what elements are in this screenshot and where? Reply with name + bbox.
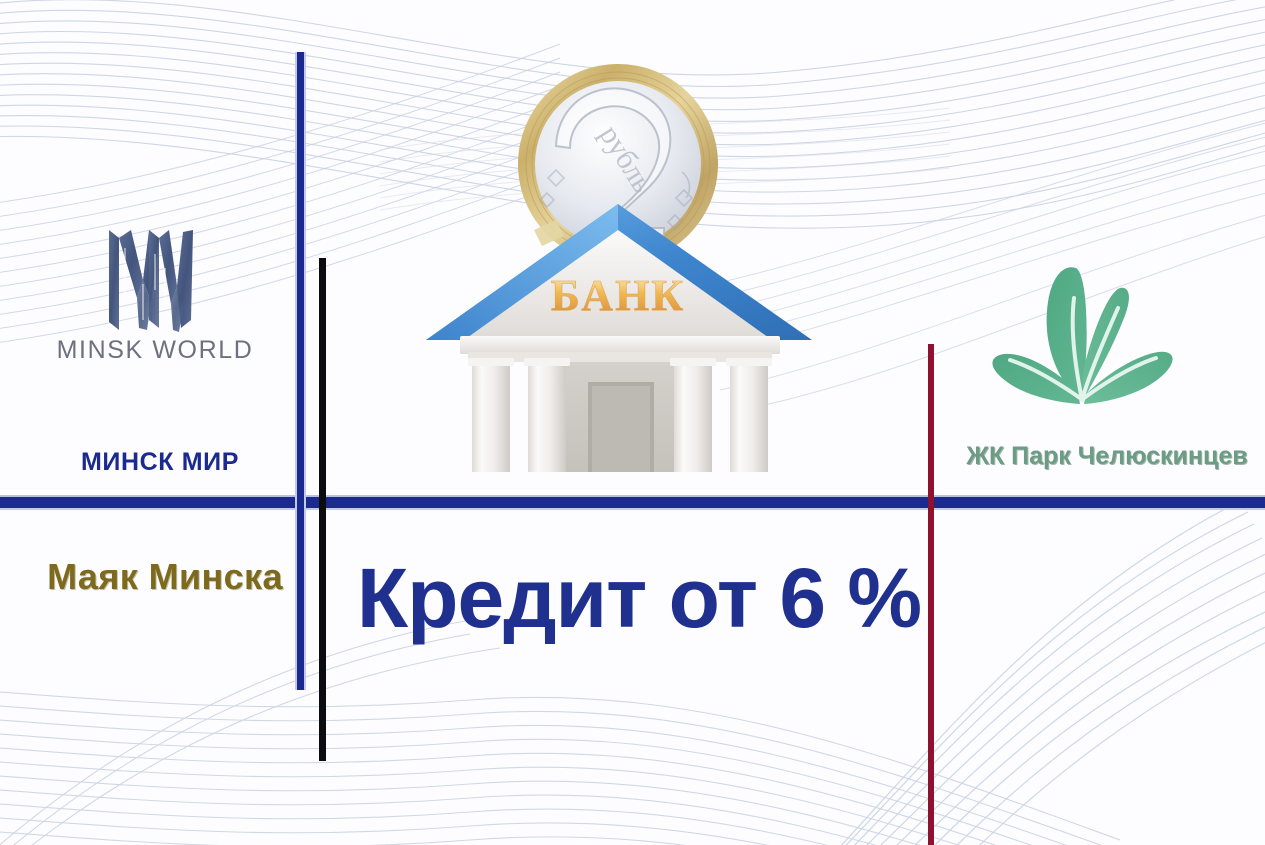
minsk-mir-cyrillic-label: МИНСК МИР <box>52 448 268 477</box>
divider-vertical-blue <box>297 52 304 690</box>
bank-building-with-coin-icon: рубль БАНК <box>420 52 820 472</box>
green-leaves-icon <box>982 262 1182 414</box>
divider-horizontal-blue <box>0 497 1265 508</box>
mw-monogram-icon <box>103 224 199 336</box>
credit-promo-poster: рубль БАНК <box>0 0 1265 845</box>
page-title: Кредит от 6 % <box>344 556 934 640</box>
divider-vertical-black <box>319 258 326 761</box>
park-chelyuskintsev-label: ЖК Парк Челюскинцев <box>948 442 1265 471</box>
mayak-minska-label: Маяк Минска <box>45 556 285 598</box>
bank-sign-text: БАНК <box>551 271 685 320</box>
minsk-world-latin-label: MINSK WORLD <box>50 336 260 365</box>
